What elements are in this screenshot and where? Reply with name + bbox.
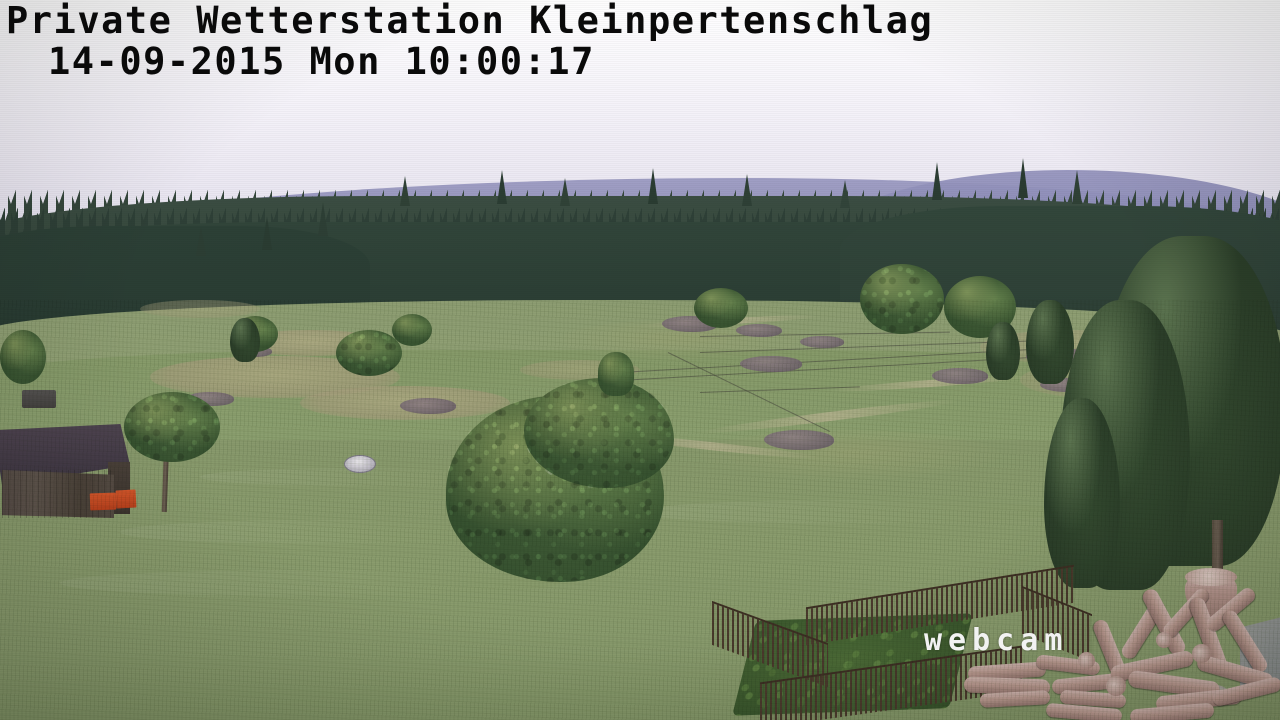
conifer-tip-icon	[648, 168, 658, 204]
grass-texture	[0, 300, 1280, 720]
conifer-tip-icon	[742, 174, 752, 206]
conifer-tip-icon	[262, 216, 272, 250]
station-name-overlay: Private Wetterstation Kleinpertenschlag	[6, 1, 933, 41]
timestamp-overlay: 14-09-2015 Mon 10:00:17	[48, 42, 595, 82]
conifer-tip-icon	[318, 202, 328, 236]
conifer-tip-icon	[840, 180, 850, 208]
conifer-tip-icon	[1018, 158, 1028, 198]
webcam-watermark: webcam	[924, 624, 1068, 658]
webcam-image: Private Wetterstation Kleinpertenschlag …	[0, 0, 1280, 720]
conifer-tip-icon	[1072, 170, 1082, 204]
conifer-tip-icon	[400, 176, 410, 206]
conifer-tip-icon	[560, 178, 570, 206]
conifer-tip-icon	[497, 170, 507, 204]
conifer-tip-icon	[932, 162, 942, 200]
conifer-tip-icon	[196, 226, 206, 256]
